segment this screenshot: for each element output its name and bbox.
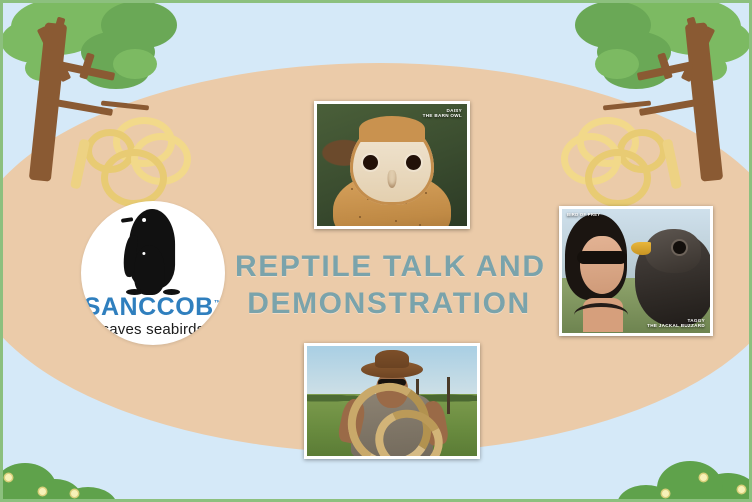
owl-beak [388,170,397,188]
bushes-bottom-left [0,443,113,502]
snake-coil-ring [101,149,167,207]
photo-barn-owl: DAISY THE BARN OWL [314,101,470,229]
flower [71,490,78,497]
penguin-icon [81,209,225,291]
owl-eye-left [363,155,378,170]
snake-coil-ring [585,149,651,207]
tree-right-leaf [595,49,639,79]
photo-snake-handler [304,343,480,459]
handler-face [580,236,624,294]
handler-necklace [574,303,628,327]
buzzard-caption-line2: THE JACKAL BUZZARD [647,323,705,328]
buzzard-photo-caption: TAGGY THE JACKAL BUZZARD [647,318,705,328]
snake-left [79,115,187,197]
sanccob-logo: SANCCOB™ saves seabirds [81,201,225,345]
flower [662,490,669,497]
logo-name: SANCCOB [84,293,214,321]
title-line-1: REPTILE TALK AND [235,249,543,286]
title-line-2: DEMONSTRATION [235,286,543,323]
flower [5,474,12,481]
page-title: REPTILE TALK AND DEMONSTRATION [235,249,543,322]
flower [700,474,707,481]
photo-jackal-buzzard: BIRD OF PREY TAGGY THE JACKAL BUZZARD [559,206,713,336]
flower [39,488,46,495]
owl-face [350,121,434,205]
poster-canvas: SANCCOB™ saves seabirds DAISY [0,0,752,502]
owl-photo-caption: DAISY THE BARN OWL [423,108,462,118]
owl-caption-line2: THE BARN OWL [423,113,462,118]
snake-right [565,115,673,197]
owl-eye-right [406,155,421,170]
logo-wordmark: SANCCOB™ [81,293,225,322]
trademark-symbol: ™ [214,299,223,308]
logo-tagline: saves seabirds [81,321,225,338]
snake-handler-hat [361,361,423,378]
buzzard-photo-caption-top: BIRD OF PREY [567,213,600,218]
handler-sunglasses [577,251,627,264]
bushes-bottom-right [609,443,752,502]
tree-left-leaf [113,49,157,79]
flower [738,486,745,493]
snake-photo-fence-post [447,377,450,414]
